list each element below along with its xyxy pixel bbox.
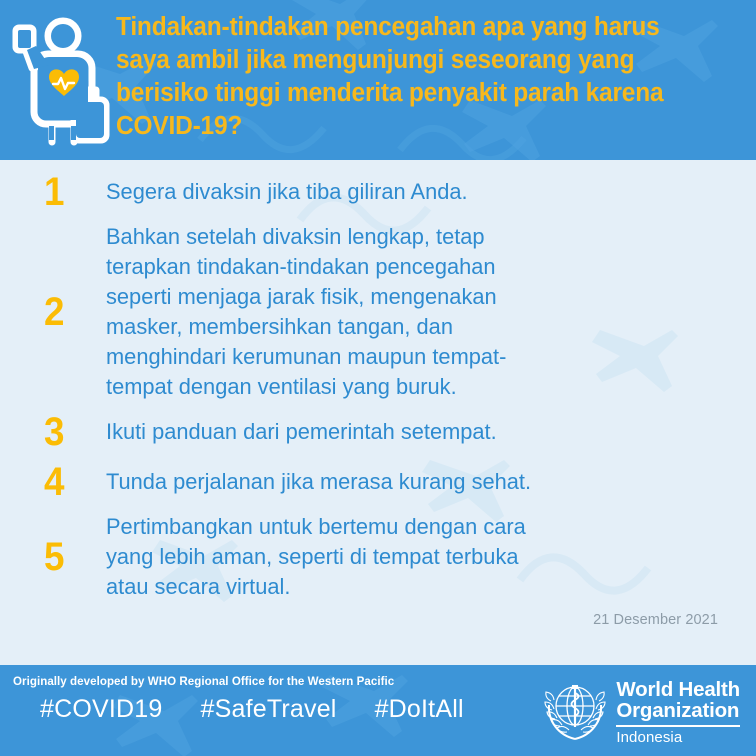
list-item-line: Ikuti panduan dari pemerintah setempat. bbox=[106, 417, 707, 447]
hashtag-doitall[interactable]: #DoItAll bbox=[375, 695, 464, 724]
list-item-number: 4 bbox=[44, 462, 101, 502]
list-item-number: 5 bbox=[44, 537, 101, 577]
list-item-text: Bahkan setelah divaksin lengkap, tetap t… bbox=[106, 222, 707, 402]
list-item-line: Tunda perjalanan jika merasa kurang seha… bbox=[106, 467, 707, 497]
page-title: Tindakan-tindakan pencegahan apa yang ha… bbox=[116, 11, 713, 143]
list-item-number: 2 bbox=[44, 292, 101, 332]
poster-footer: Originally developed by WHO Regional Off… bbox=[0, 665, 756, 756]
list-item-line: Segera divaksin jika tiba giliran Anda. bbox=[106, 177, 707, 207]
poster-header: Tindakan-tindakan pencegahan apa yang ha… bbox=[0, 0, 756, 160]
list-item-line: terapkan tindakan-tindakan pencegahan bbox=[106, 252, 707, 282]
list-item-text: Pertimbangkan untuk bertemu dengan cara … bbox=[106, 512, 707, 602]
list-item-line: yang lebih aman, seperti di tempat terbu… bbox=[106, 542, 707, 572]
list-item-line: tempat dengan ventilasi yang buruk. bbox=[106, 372, 707, 402]
poster-body: 1 Segera divaksin jika tiba giliran Anda… bbox=[0, 160, 756, 665]
who-emblem-icon bbox=[542, 679, 608, 743]
who-wordmark: World Health Organization Indonesia bbox=[616, 679, 740, 746]
attribution-text: Originally developed by WHO Regional Off… bbox=[13, 674, 394, 688]
list-item-text: Tunda perjalanan jika merasa kurang seha… bbox=[106, 467, 707, 497]
hashtag-list: #COVID19 #SafeTravel #DoItAll bbox=[40, 695, 464, 724]
list-item-text: Segera divaksin jika tiba giliran Anda. bbox=[106, 177, 707, 207]
list-item-text: Ikuti panduan dari pemerintah setempat. bbox=[106, 417, 707, 447]
advice-list: 1 Segera divaksin jika tiba giliran Anda… bbox=[0, 160, 756, 602]
list-item-number: 3 bbox=[44, 412, 101, 452]
title-line: Tindakan-tindakan pencegahan apa yang bbox=[116, 13, 587, 41]
publication-date: 21 Desember 2021 bbox=[0, 612, 756, 628]
list-item-line: atau secara virtual. bbox=[106, 572, 707, 602]
hashtag-safetravel[interactable]: #SafeTravel bbox=[201, 695, 337, 724]
list-item-line: menghindari kerumunan maupun tempat- bbox=[106, 342, 707, 372]
list-item-line: seperti menjaga jarak fisik, mengenakan bbox=[106, 282, 707, 312]
list-item: 5 Pertimbangkan untuk bertemu dengan car… bbox=[0, 512, 756, 602]
hashtag-covid19[interactable]: #COVID19 bbox=[40, 695, 163, 724]
who-name-line2: Organization bbox=[616, 700, 740, 721]
who-name-line1: World Health bbox=[616, 679, 740, 700]
list-item: 3 Ikuti panduan dari pemerintah setempat… bbox=[0, 412, 756, 452]
who-logo: World Health Organization Indonesia bbox=[542, 679, 740, 746]
covid-advice-poster: Tindakan-tindakan pencegahan apa yang ha… bbox=[0, 0, 756, 756]
traveler-with-suitcase-icon bbox=[8, 8, 116, 158]
who-country-label: Indonesia bbox=[616, 730, 740, 746]
list-item-number: 1 bbox=[44, 172, 101, 212]
list-item-line: masker, membersihkan tangan, dan bbox=[106, 312, 707, 342]
list-item: 4 Tunda perjalanan jika merasa kurang se… bbox=[0, 462, 756, 502]
who-divider bbox=[616, 725, 740, 727]
list-item-line: Pertimbangkan untuk bertemu dengan cara bbox=[106, 512, 707, 542]
list-item: 1 Segera divaksin jika tiba giliran Anda… bbox=[0, 172, 756, 212]
list-item: 2 Bahkan setelah divaksin lengkap, tetap… bbox=[0, 222, 756, 402]
list-item-line: Bahkan setelah divaksin lengkap, tetap bbox=[106, 222, 707, 252]
